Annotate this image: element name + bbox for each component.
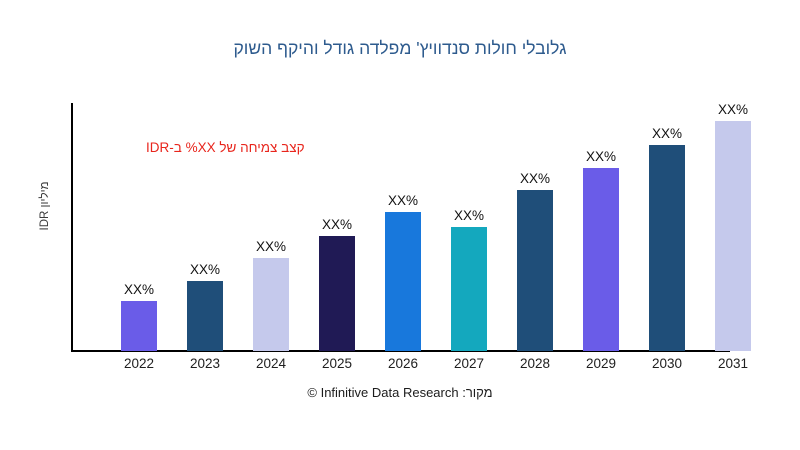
bar-value-label: XX%: [370, 193, 436, 208]
x-axis-tick-label: 2023: [172, 356, 238, 371]
chart-container: גלובלי חולות סנדוויץ' מפלדה גודל והיקף ה…: [0, 0, 800, 450]
x-axis-tick-label: 2022: [106, 356, 172, 371]
bar[interactable]: [517, 190, 553, 351]
bar[interactable]: [253, 258, 289, 351]
x-axis-tick-label: 2026: [370, 356, 436, 371]
x-axis-tick-label: 2029: [568, 356, 634, 371]
bar-value-label: XX%: [700, 102, 766, 117]
bar-value-label: XX%: [436, 208, 502, 223]
x-axis-tick-labels: 2022202320242025202620272028202920302031: [71, 356, 800, 380]
bar-value-label: XX%: [634, 126, 700, 141]
bar[interactable]: [451, 227, 487, 351]
y-axis-label: מיליון IDR: [39, 146, 51, 266]
bar-group: XX%: [568, 103, 634, 351]
bar-value-label: XX%: [238, 239, 304, 254]
page-title: גלובלי חולות סנדוויץ' מפלדה גודל והיקף ה…: [0, 38, 800, 59]
bar[interactable]: [187, 281, 223, 351]
bar-value-label: XX%: [568, 149, 634, 164]
x-axis-tick-label: 2025: [304, 356, 370, 371]
bar-value-label: XX%: [106, 282, 172, 297]
bar-group: XX%: [634, 103, 700, 351]
bar[interactable]: [715, 121, 751, 351]
bar-group: XX%: [436, 103, 502, 351]
x-axis-tick-label: 2027: [436, 356, 502, 371]
bar[interactable]: [649, 145, 685, 351]
bar[interactable]: [385, 212, 421, 351]
x-axis-tick-label: 2030: [634, 356, 700, 371]
bar-value-label: XX%: [304, 217, 370, 232]
bar[interactable]: [583, 168, 619, 351]
source-note: מקור: Infinitive Data Research ©: [0, 385, 800, 400]
bar[interactable]: [121, 301, 157, 351]
bar-group: XX%: [370, 103, 436, 351]
cagr-annotation: קצב צמיחה של XX% ב-IDR: [146, 140, 305, 155]
bar-group: XX%: [304, 103, 370, 351]
bar-value-label: XX%: [502, 171, 568, 186]
bar-group: XX%: [502, 103, 568, 351]
x-axis-tick-label: 2024: [238, 356, 304, 371]
bar-group: XX%: [700, 103, 766, 351]
bar[interactable]: [319, 236, 355, 351]
x-axis-tick-label: 2031: [700, 356, 766, 371]
bar-value-label: XX%: [172, 262, 238, 277]
x-axis-tick-label: 2028: [502, 356, 568, 371]
